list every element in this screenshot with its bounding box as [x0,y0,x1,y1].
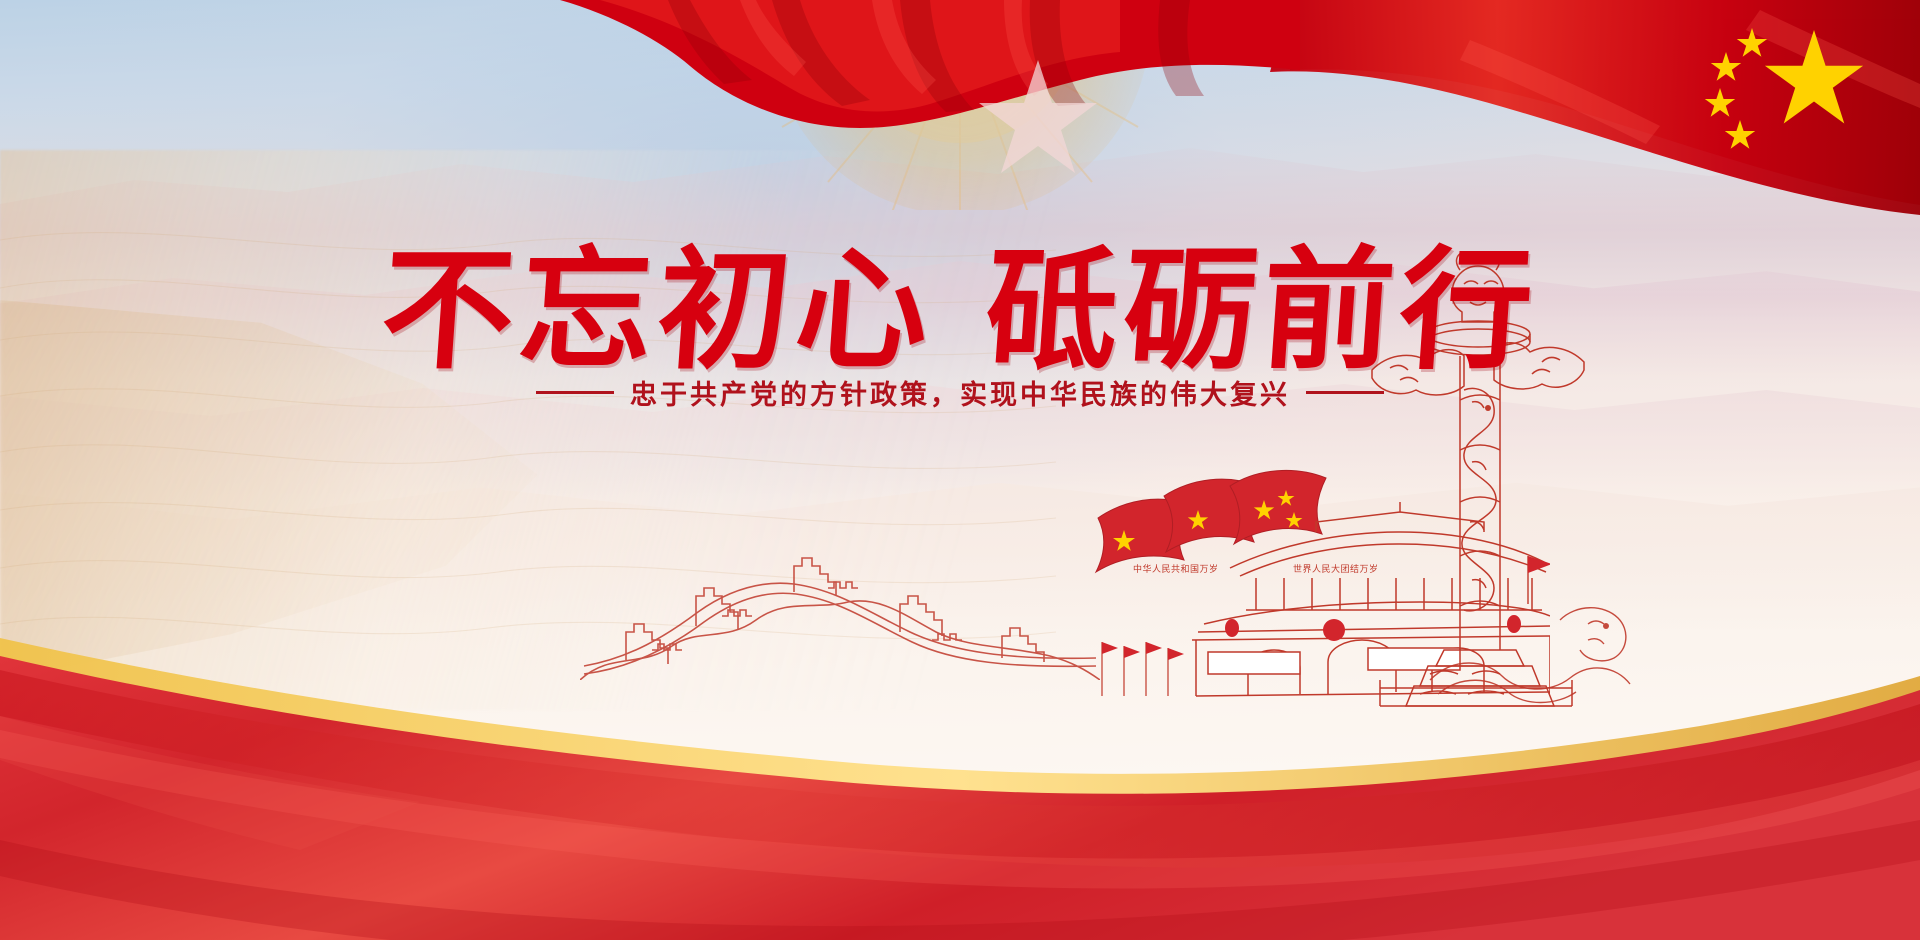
national-flag-icon [0,0,1920,240]
rule-left-icon [536,391,614,394]
rule-right-icon [1306,391,1384,394]
page-title: 不忘初心 砥砺前行 [0,245,1920,377]
poster-canvas: 中华人民共和国万岁 世界人民大团结万岁 [0,0,1920,940]
subtitle-row: 忠于共产党的方针政策，实现中华民族的伟大复兴 [0,373,1920,412]
red-silk-ribbon-icon [0,520,1920,940]
five-gold-stars-icon [1700,22,1880,152]
page-subtitle: 忠于共产党的方针政策，实现中华民族的伟大复兴 [630,373,1290,412]
